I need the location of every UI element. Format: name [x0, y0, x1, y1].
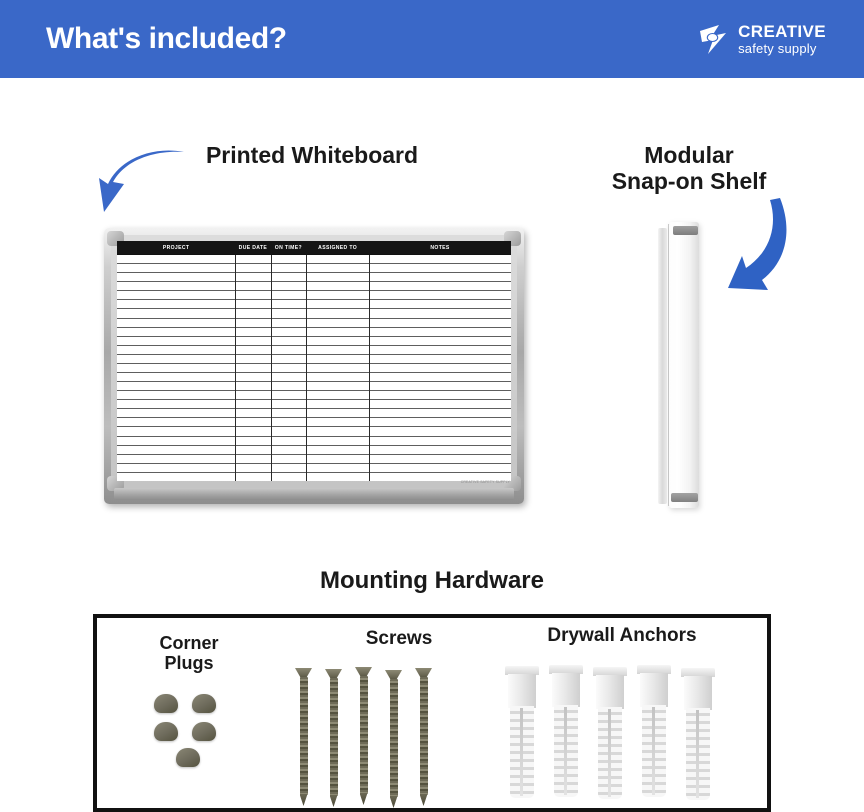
- screw-icon: [385, 670, 402, 808]
- anchor-split-line: [696, 710, 699, 798]
- creative-arrow-logo-icon: [699, 23, 729, 55]
- whiteboard-caption: Printed Whiteboard: [160, 143, 464, 169]
- whiteboard-grid-row: [117, 427, 511, 436]
- whiteboard-grid-row: [117, 473, 511, 481]
- screw-shaft: [360, 676, 368, 794]
- whiteboard-grid-row: [117, 446, 511, 455]
- whiteboard-grid-row: [117, 437, 511, 446]
- screw-tip: [300, 794, 308, 806]
- screws-label: Screws: [319, 629, 479, 650]
- drywall-anchors-group: [505, 662, 740, 812]
- anchor-split-line: [564, 707, 567, 795]
- screw-icon: [325, 669, 342, 807]
- screw-icon: [355, 667, 372, 805]
- corner-plug-icon: [176, 748, 200, 767]
- drywall-anchor-icon: [505, 666, 539, 808]
- screw-shaft: [420, 677, 428, 795]
- shelf-face-panel: [669, 222, 699, 508]
- corner-plug-icon: [154, 722, 178, 741]
- shelf-caption-line2: Snap-on Shelf: [612, 168, 767, 194]
- screw-shaft: [390, 679, 398, 797]
- screw-shaft: [330, 678, 338, 796]
- brand-tagline: safety supply: [738, 42, 826, 55]
- whiteboard-grid-row: [117, 382, 511, 391]
- drywall-anchor-icon: [637, 665, 671, 807]
- mounting-hardware-box: Corner Plugs Screws Drywall Anchors: [93, 614, 771, 812]
- whiteboard-grid-row: [117, 418, 511, 427]
- whiteboard-tray-branding: CREATIVE SAFETY SUPPLY: [461, 480, 510, 484]
- corner-plugs-label: Corner Plugs: [129, 634, 249, 674]
- screw-icon: [415, 668, 432, 806]
- drywall-anchors-label: Drywall Anchors: [497, 626, 747, 647]
- anchor-collar: [640, 673, 668, 707]
- whiteboard-grid-row: [117, 373, 511, 382]
- whiteboard-grid-row: [117, 409, 511, 418]
- screw-shaft: [300, 677, 308, 795]
- whiteboard-grid-row: [117, 264, 511, 273]
- anchor-collar: [508, 674, 536, 708]
- screw-tip: [360, 793, 368, 805]
- whiteboard-grid-row: [117, 328, 511, 337]
- whiteboard-grid-row: [117, 464, 511, 473]
- shelf-cap-bottom: [671, 493, 698, 502]
- corner-plugs-label-line1: Corner: [159, 633, 218, 653]
- screw-tip: [390, 796, 398, 808]
- shelf-caption-line1: Modular: [644, 142, 733, 168]
- brand-name: CREATIVE: [738, 23, 826, 40]
- whiteboard-column-header: ASSIGNED TO: [306, 241, 369, 254]
- corner-plug-icon: [192, 722, 216, 741]
- shelf-caption: Modular Snap-on Shelf: [580, 143, 798, 195]
- anchor-split-line: [520, 708, 523, 796]
- whiteboard-surface: PROJECTDUE DATEON TIME?ASSIGNED TONOTES: [117, 241, 511, 481]
- whiteboard-grid-row: [117, 300, 511, 309]
- shelf-pointer-arrow-icon: [718, 196, 796, 300]
- whiteboard-grid-row: [117, 255, 511, 264]
- drywall-anchor-icon: [549, 665, 583, 807]
- page-header: What's included? CREATIVE safety supply: [0, 0, 864, 78]
- drywall-anchor-icon: [593, 667, 627, 809]
- whiteboard-column-header: DUE DATE: [235, 241, 270, 254]
- whiteboard-grid-row: [117, 273, 511, 282]
- page-title: What's included?: [46, 22, 287, 56]
- corner-plug-icon: [192, 694, 216, 713]
- drywall-anchor-icon: [681, 668, 715, 810]
- anchor-split-line: [652, 707, 655, 795]
- brand-logo: CREATIVE safety supply: [699, 23, 826, 55]
- screw-tip: [330, 795, 338, 807]
- screw-tip: [420, 794, 428, 806]
- anchor-collar: [684, 676, 712, 710]
- whiteboard-column-header: PROJECT: [117, 241, 235, 254]
- whiteboard-grid-row: [117, 337, 511, 346]
- whiteboard-grid-row: [117, 309, 511, 318]
- brand-text: CREATIVE safety supply: [738, 23, 826, 55]
- anchor-collar: [596, 675, 624, 709]
- whiteboard-header-row: PROJECTDUE DATEON TIME?ASSIGNED TONOTES: [117, 241, 511, 254]
- whiteboard-column-header: ON TIME?: [271, 241, 306, 254]
- printed-whiteboard: PROJECTDUE DATEON TIME?ASSIGNED TONOTES …: [104, 228, 524, 504]
- screw-icon: [295, 668, 312, 806]
- whiteboard-grid-row: [117, 391, 511, 400]
- whiteboard-grid-row: [117, 291, 511, 300]
- whiteboard-grid-row: [117, 400, 511, 409]
- shelf-back-rail: [658, 228, 667, 504]
- corner-plugs-group: [152, 694, 228, 764]
- whiteboard-grid-row: [117, 319, 511, 328]
- whiteboard-grid-row: [117, 346, 511, 355]
- anchor-collar: [552, 673, 580, 707]
- whiteboard-grid-row: [117, 455, 511, 464]
- whiteboard-marker-tray: [114, 488, 514, 500]
- anchor-split-line: [608, 709, 611, 797]
- whiteboard-grid-row: [117, 282, 511, 291]
- modular-snap-on-shelf: [658, 222, 702, 508]
- screws-group: [295, 666, 455, 808]
- whiteboard-grid-row: [117, 364, 511, 373]
- hardware-caption: Mounting Hardware: [232, 568, 632, 595]
- whiteboard-grid-body: [117, 254, 511, 481]
- whiteboard-column-header: NOTES: [369, 241, 511, 254]
- corner-plug-icon: [154, 694, 178, 713]
- shelf-cap-top: [673, 226, 698, 235]
- whiteboard-grid-row: [117, 355, 511, 364]
- corner-plugs-label-line2: Plugs: [164, 653, 213, 673]
